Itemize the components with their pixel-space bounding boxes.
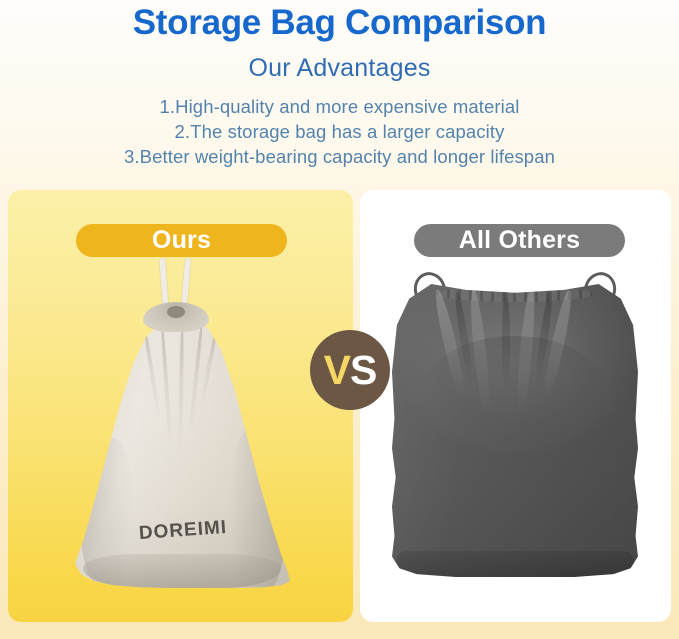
bag-base-shadow xyxy=(83,554,281,588)
badge-ours-label: Ours xyxy=(152,226,211,255)
vs-letter-s: S xyxy=(350,347,376,394)
advantage-item-3: 3.Better weight-bearing capacity and lon… xyxy=(0,144,679,169)
bag-inner-shadow xyxy=(424,336,606,444)
vs-letter-v: V xyxy=(324,347,350,394)
bag-ours-fabric: DOREIMI xyxy=(75,318,290,588)
advantage-item-2: 2.The storage bag has a larger capacity xyxy=(0,119,679,144)
vs-badge: VS xyxy=(310,330,390,410)
bag-ours-illustration: DOREIMI xyxy=(75,258,290,588)
bag-base-shadow xyxy=(396,551,634,577)
bag-others-illustration xyxy=(392,272,638,577)
bag-pleat xyxy=(186,320,204,455)
bag-drawstring-knot xyxy=(167,306,185,318)
bag-pleat xyxy=(178,320,185,475)
bag-others-body xyxy=(392,284,638,577)
bag-pleat xyxy=(160,320,174,470)
page-title: Storage Bag Comparison xyxy=(0,0,679,44)
bag-ours-body: DOREIMI xyxy=(75,302,290,588)
badge-all-others: All Others xyxy=(414,224,625,257)
advantage-item-1: 1.High-quality and more expensive materi… xyxy=(0,94,679,119)
page-subtitle: Our Advantages xyxy=(0,44,679,83)
badge-ours: Ours xyxy=(76,224,287,257)
header: Storage Bag Comparison Our Advantages 1.… xyxy=(0,0,679,169)
comparison-infographic: Storage Bag Comparison Our Advantages 1.… xyxy=(0,0,679,639)
badge-all-others-label: All Others xyxy=(459,226,580,255)
advantages-list: 1.High-quality and more expensive materi… xyxy=(0,83,679,169)
